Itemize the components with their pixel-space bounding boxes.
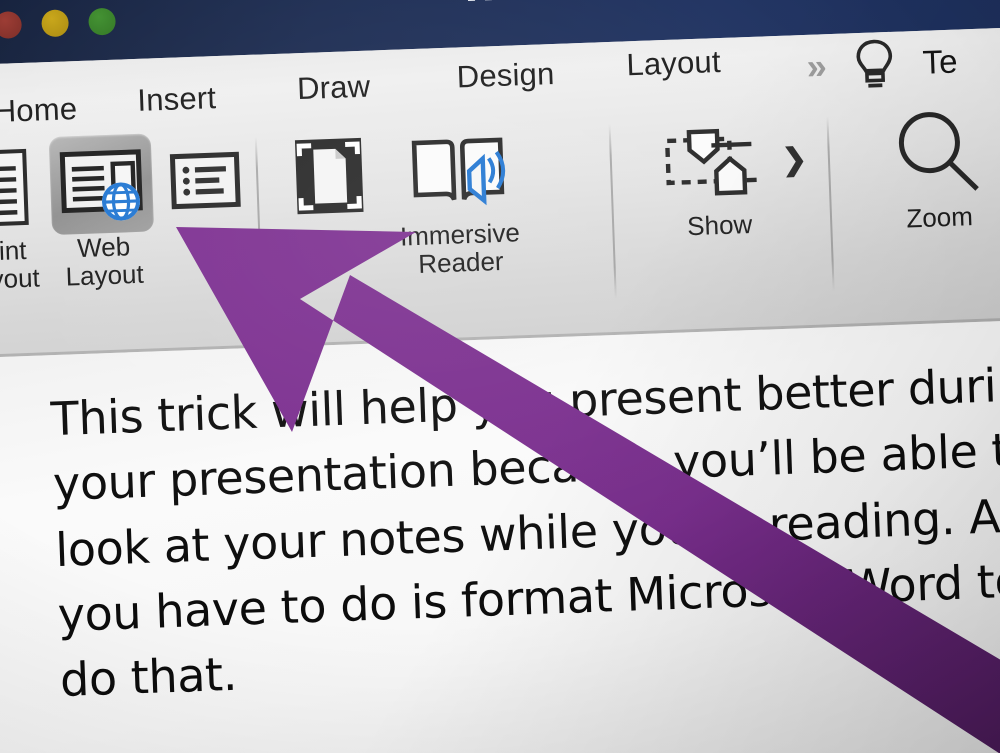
tab-layout[interactable]: Layout xyxy=(626,44,722,83)
tell-me-label[interactable]: Te xyxy=(922,43,958,82)
lightbulb-icon[interactable] xyxy=(854,38,896,91)
chevron-down-icon[interactable]: ❯ xyxy=(781,145,807,176)
show-icon xyxy=(628,109,806,215)
home-icon[interactable] xyxy=(463,0,496,3)
minimize-button[interactable] xyxy=(41,9,69,37)
ribbon-command-row: Print Layout xyxy=(0,100,1000,355)
outline-view-icon xyxy=(145,128,267,232)
ribbon-group-focus-reader: Focus Immersive Reader xyxy=(268,117,595,328)
web-layout-label: Web Layout xyxy=(44,232,164,292)
outline-view-button[interactable] xyxy=(145,128,267,232)
quick-access-toolbar[interactable] xyxy=(463,0,748,3)
ribbon: Home Insert Draw Design Layout » Te xyxy=(0,26,1000,356)
show-button[interactable]: Show ❯ xyxy=(628,109,807,243)
word-application-window: Home Insert Draw Design Layout » Te xyxy=(0,0,1000,753)
tab-design[interactable]: Design xyxy=(456,56,555,95)
maximize-button[interactable] xyxy=(88,8,116,36)
ribbon-group-views: Print Layout xyxy=(0,130,236,341)
group-separator xyxy=(609,124,617,299)
web-layout-icon xyxy=(41,132,163,236)
ribbon-overflow-icon[interactable]: » xyxy=(806,48,827,85)
immersive-reader-button[interactable]: Immersive Reader xyxy=(368,118,548,280)
tab-insert[interactable]: Insert xyxy=(137,80,217,119)
ribbon-group-zoom: Zoom ❯ xyxy=(848,100,1000,307)
document-body-text[interactable]: This trick will help you present better … xyxy=(50,351,1000,713)
tab-home[interactable]: Home xyxy=(0,91,78,130)
magnifier-icon xyxy=(848,101,1000,207)
document-canvas[interactable]: This trick will help you present better … xyxy=(0,319,1000,753)
zoom-label: Zoom xyxy=(852,201,1000,235)
immersive-reader-label: Immersive Reader xyxy=(372,218,549,280)
show-label: Show xyxy=(632,209,808,243)
immersive-reader-icon xyxy=(368,118,546,224)
zoom-button[interactable]: Zoom ❯ xyxy=(848,101,1000,235)
tab-draw[interactable]: Draw xyxy=(296,69,370,108)
ribbon-right-controls: » Te xyxy=(806,36,959,93)
ribbon-group-show: Show ❯ xyxy=(628,109,815,315)
window-controls[interactable] xyxy=(0,8,116,39)
screenshot-stage: Home Insert Draw Design Layout » Te xyxy=(0,0,1000,753)
group-separator xyxy=(826,116,834,291)
close-button[interactable] xyxy=(0,11,22,39)
